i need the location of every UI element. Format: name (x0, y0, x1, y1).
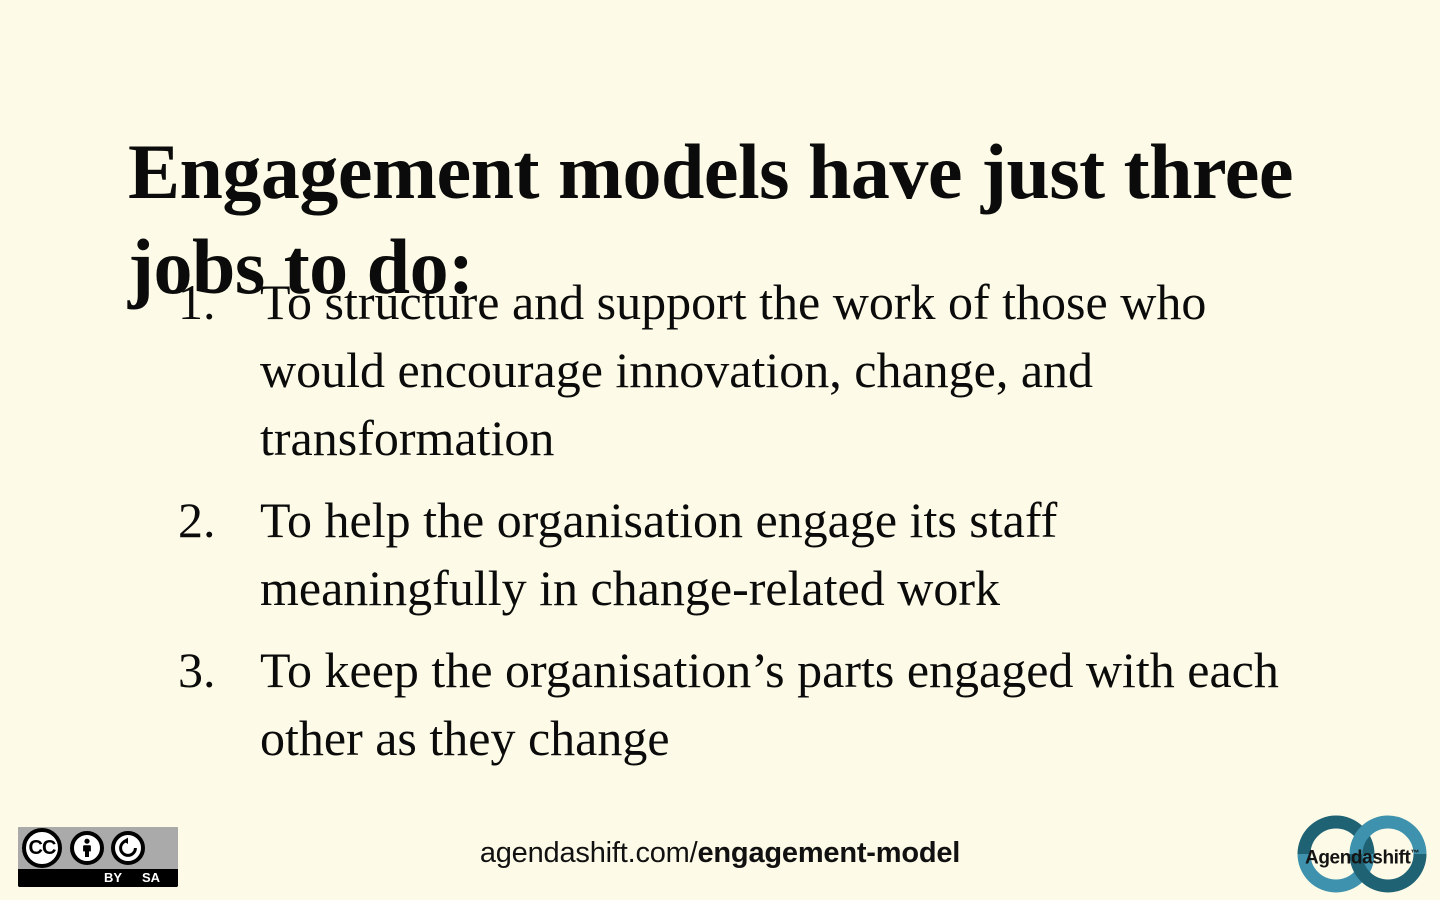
attribution-person-icon (70, 831, 104, 865)
slide-canvas: Engagement models have just three jobs t… (0, 0, 1440, 900)
list-item-number: 2. (178, 486, 260, 554)
list-item: 1. To structure and support the work of … (178, 268, 1298, 472)
creative-commons-icon-label: CC (29, 838, 56, 858)
list-item-text: To structure and support the work of tho… (260, 268, 1298, 472)
agendashift-wordmark: Agendashift™ (1288, 842, 1436, 869)
footer-url[interactable]: agendashift.com/engagement-model (0, 832, 1440, 874)
cc-sa-label: SA (142, 870, 160, 886)
cc-by-label: BY (104, 870, 122, 886)
footer-url-emphasis: engagement-model (697, 837, 960, 869)
creative-commons-icon: CC (22, 828, 62, 868)
share-alike-icon (111, 831, 145, 865)
jobs-ordered-list: 1. To structure and support the work of … (178, 268, 1298, 786)
list-item-text: To help the organisation engage its staf… (260, 486, 1298, 622)
cc-by-sa-badge[interactable]: CC BY SA (18, 827, 178, 887)
footer-url-prefix: agendashift.com/ (480, 837, 698, 869)
trademark-icon: ™ (1410, 848, 1419, 858)
agendashift-logo[interactable]: Agendashift™ (1288, 812, 1436, 896)
agendashift-wordmark-text: Agendashift (1305, 847, 1410, 868)
cc-badge-label-band: BY SA (18, 869, 178, 887)
cc-badge-icon-band: CC (18, 827, 178, 869)
list-item: 2. To help the organisation engage its s… (178, 486, 1298, 622)
list-item: 3. To keep the organisation’s parts enga… (178, 636, 1298, 772)
list-item-number: 1. (178, 268, 260, 336)
list-item-text: To keep the organisation’s parts engaged… (260, 636, 1298, 772)
list-item-number: 3. (178, 636, 260, 704)
